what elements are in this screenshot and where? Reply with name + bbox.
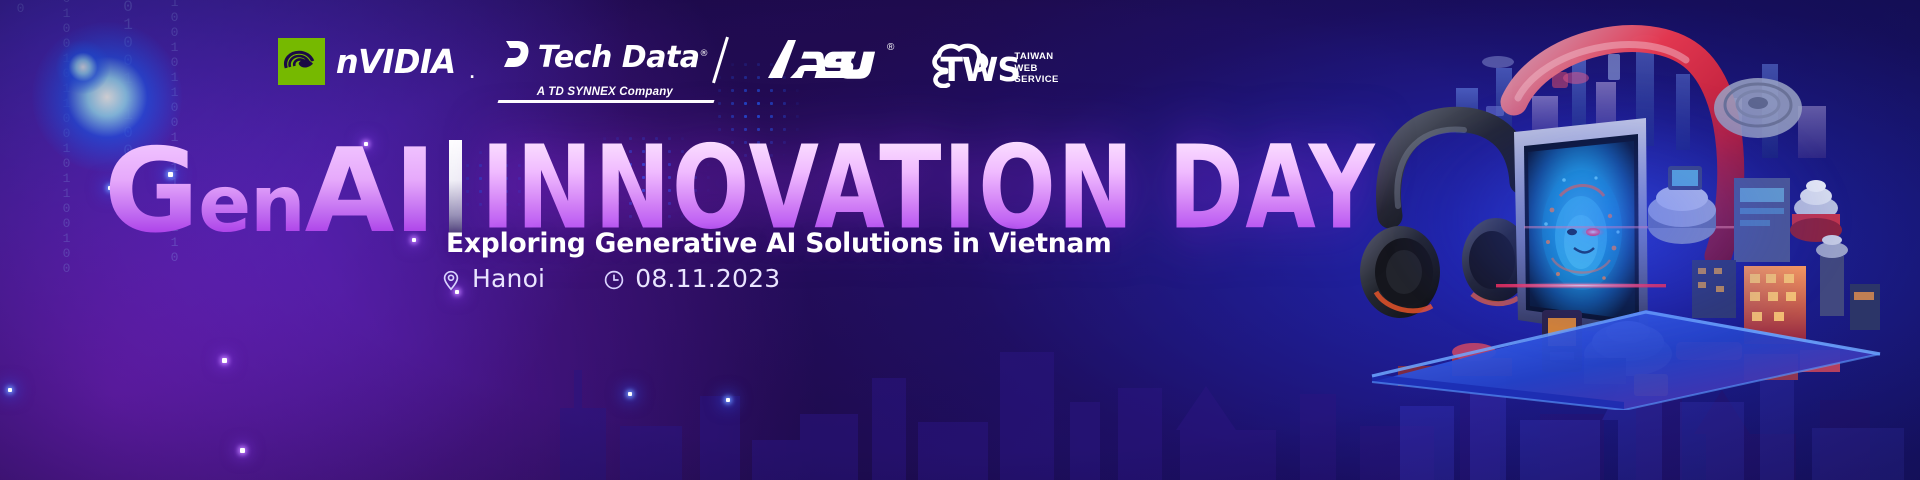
brand-genai: GenAI	[104, 142, 436, 242]
registered-mark: ®	[887, 42, 894, 53]
brand-genai-g: G	[104, 142, 198, 242]
headline: GenAI INNOVATION DAY	[104, 140, 1403, 242]
genai-innovation-day-banner: 0010 0110100101100101100100 100100111001…	[0, 0, 1920, 480]
logo-tws[interactable]: TWS TAIWAN WEB SERVICE	[926, 38, 1058, 88]
tech-data-wordmark: Tech Data®	[538, 40, 708, 75]
tech-data-tagline: A TD SYNNEX Company	[502, 86, 708, 98]
sparkle-particle	[8, 388, 12, 392]
tws-tagline-line-2: WEB	[1014, 63, 1058, 75]
tws-tagline-line-1: TAIWAN	[1014, 51, 1058, 63]
tws-tagline: TAIWAN WEB SERVICE	[1014, 51, 1058, 86]
sparkle-particle	[240, 448, 245, 453]
nvidia-eye-icon	[278, 38, 325, 85]
location-pin-icon	[440, 268, 462, 290]
logo-tech-data[interactable]: Tech Data® A TD SYNNEX Company	[502, 38, 708, 101]
brand-genai-en: en	[198, 172, 304, 239]
tws-cloud-icon: TWS	[926, 42, 1012, 88]
asus-wordmark	[766, 38, 884, 85]
headline-divider	[449, 140, 462, 236]
meta-date: 08.11.2023	[603, 264, 780, 293]
nvidia-trailing-dot: .	[469, 56, 476, 85]
clock-icon	[603, 268, 625, 290]
nvidia-wordmark: nVIDIA	[336, 42, 456, 81]
meta-location: Hanoi	[440, 264, 545, 293]
registered-mark: ®	[700, 49, 709, 59]
sparkle-particle	[222, 358, 227, 363]
tws-wordmark: TWS	[940, 50, 1020, 89]
ai-tech-city-illustration	[1346, 10, 1906, 410]
sparkle-particle	[628, 392, 632, 396]
tech-data-slash	[712, 37, 729, 84]
meta-location-label: Hanoi	[472, 264, 545, 293]
brand-genai-ai: AI	[305, 142, 436, 242]
tech-data-underline	[497, 100, 714, 103]
logo-nvidia[interactable]: nVIDIA .	[278, 38, 476, 85]
subtitle: Exploring Generative AI Solutions in Vie…	[446, 228, 1112, 259]
tech-data-d-icon	[502, 38, 532, 77]
sponsor-logo-row: nVIDIA . Tech Data® A TD SYNNEX Company	[278, 38, 1059, 101]
meta-date-label: 08.11.2023	[635, 264, 780, 293]
event-title: INNOVATION DAY	[481, 139, 1376, 242]
logo-asus[interactable]: ®	[766, 38, 894, 85]
sparkle-particle	[726, 398, 730, 402]
tws-tagline-line-3: SERVICE	[1014, 74, 1058, 86]
event-meta: Hanoi 08.11.2023	[440, 264, 780, 293]
